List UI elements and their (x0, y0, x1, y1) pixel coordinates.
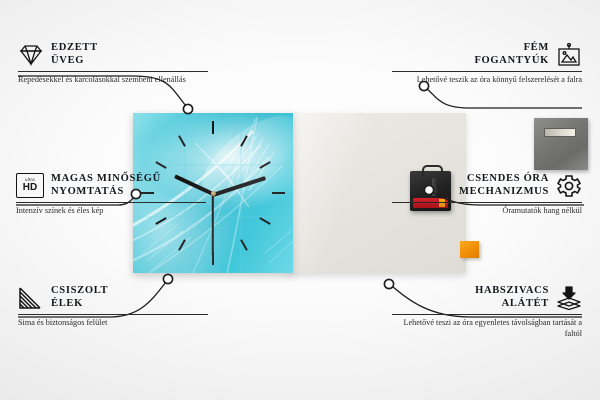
callout-polished-edges[interactable]: CSISZOLTÉLEK Sima és biztonságos felület (18, 285, 208, 329)
metal-hanger (534, 118, 588, 170)
callout-description: Lehetővé teszik az óra könnyű felszerelé… (392, 75, 582, 86)
gear-icon (556, 174, 582, 198)
second-hand (212, 194, 214, 256)
ultra-hd-main-label: HD (23, 183, 37, 193)
callout-description: Intenzív színek és éles kép (16, 206, 206, 217)
callout-title: MAGAS MINŐSÉGŰNYOMTATÁS (51, 173, 161, 198)
callout-description: Lehetővé teszi az óra egyenletes távolsá… (392, 318, 582, 339)
callout-divider (16, 202, 206, 203)
diamond-icon (18, 43, 44, 67)
hanger-slot (544, 128, 576, 137)
callout-high-quality-print[interactable]: ultra HD MAGAS MINŐSÉGŰNYOMTATÁS Intenzí… (16, 173, 206, 217)
wall-mount-frame-icon (556, 43, 582, 67)
clock-center-cap (211, 191, 216, 196)
callout-title: FÉMFOGANTYÚK (474, 42, 549, 67)
clock-tick (212, 121, 214, 134)
foam-press-icon (556, 286, 582, 310)
polished-edge-icon (18, 286, 44, 310)
callout-divider (392, 71, 582, 72)
callout-metal-handles[interactable]: FÉMFOGANTYÚK Lehetővé teszik az óra könn… (392, 42, 582, 86)
callout-divider (18, 71, 208, 72)
callout-divider (392, 314, 582, 315)
callout-foam-pad[interactable]: HABSZIVACSALÁTÉT Lehetővé teszi az óra e… (392, 285, 582, 339)
callout-title: EDZETTÜVEG (51, 42, 98, 67)
callout-description: Sima és biztonságos felület (18, 318, 208, 329)
callout-description: Óramutatók hang nélkül (392, 206, 582, 217)
ultra-hd-icon: ultra HD (16, 173, 44, 198)
callout-divider (18, 314, 208, 315)
clock-tick (272, 192, 285, 194)
callout-tempered-glass[interactable]: EDZETTÜVEG Repedésekkel és karcolásokkal… (18, 42, 208, 86)
callout-title: CSISZOLTÉLEK (51, 285, 108, 310)
infographic-stage: EDZETTÜVEG Repedésekkel és karcolásokkal… (0, 0, 600, 400)
callout-description: Repedésekkel és karcolásokkal szembeni e… (18, 75, 208, 86)
foam-pad (460, 241, 479, 258)
callout-title: HABSZIVACSALÁTÉT (475, 285, 549, 310)
callout-silent-mechanism[interactable]: CSENDES ÓRAMECHANIZMUS Óramutatók hang n… (392, 173, 582, 217)
callout-title: CSENDES ÓRAMECHANIZMUS (459, 173, 549, 198)
callout-divider (392, 202, 582, 203)
